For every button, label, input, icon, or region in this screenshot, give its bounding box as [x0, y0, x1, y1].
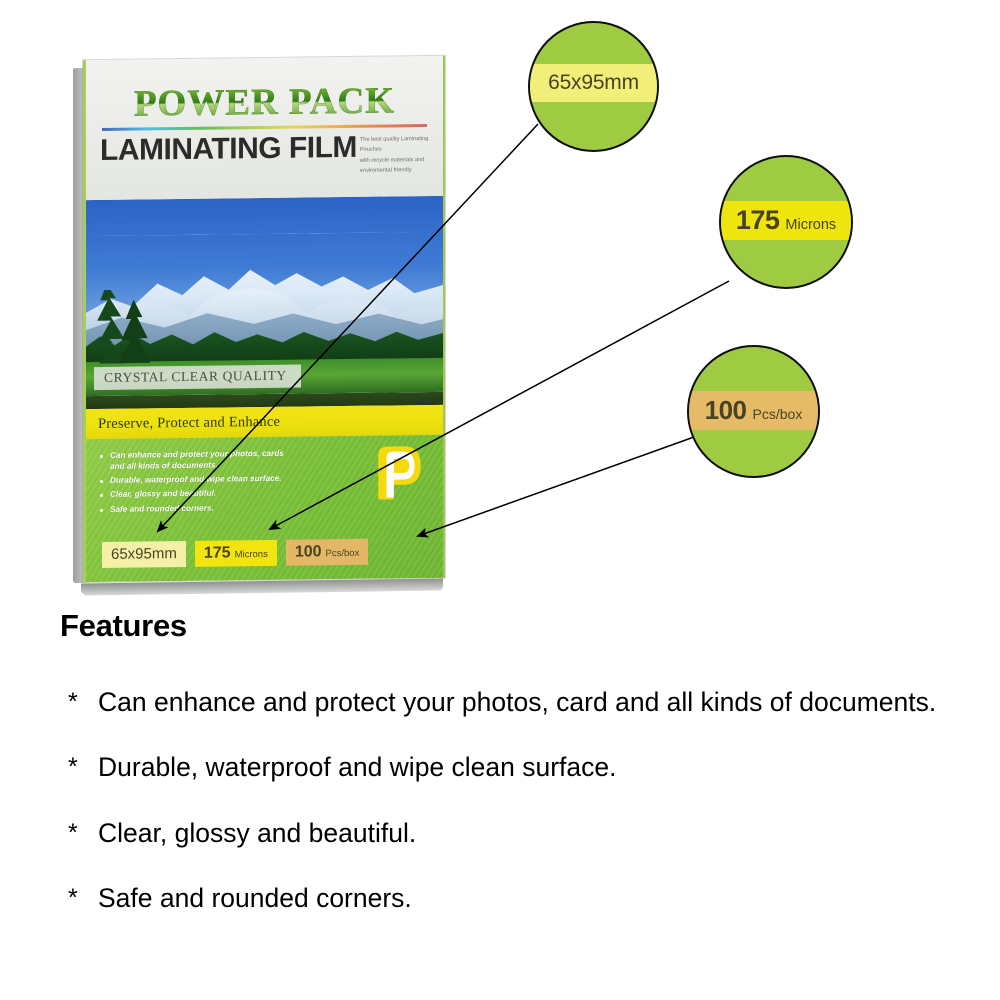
bullet-star-icon: *	[68, 818, 78, 848]
product-type-title: LAMINATING FILM	[100, 133, 357, 166]
box-badge-microns-unit: Microns	[235, 549, 268, 560]
bullet-star-icon: *	[68, 687, 78, 717]
box-badge-pcs: 100 Pcs/box	[286, 539, 369, 566]
power-pack-p-logo-icon	[373, 443, 425, 502]
feature-list-item-text: Safe and rounded corners.	[98, 883, 412, 913]
callout-pcs-unit: Pcs/box	[753, 406, 803, 422]
features-list: * Can enhance and protect your photos, c…	[60, 686, 990, 914]
feature-list-item-text: Can enhance and protect your photos, car…	[98, 687, 936, 717]
callout-strip-microns: 175 Microns	[721, 201, 851, 240]
bullet-star-icon: *	[68, 883, 78, 913]
rainbow-divider	[102, 124, 427, 131]
box-badge-microns-value: 175	[204, 540, 231, 566]
callout-strip-pcs: 100 Pcs/box	[689, 391, 818, 430]
callout-circle-pcs: 100 Pcs/box	[687, 345, 820, 478]
box-badge-pcs-value: 100	[295, 539, 322, 565]
callout-size-value: 65x95mm	[548, 64, 639, 102]
callout-pcs-value: 100	[705, 391, 747, 430]
tagline-band: Preserve, Protect and Enhance	[86, 405, 443, 439]
blurb-line-3: enviromental friendly	[360, 165, 429, 176]
box-feature-item: Clear, glossy and beautiful.	[100, 488, 300, 501]
blurb-line-1: The best quality Laminating Pouches	[360, 134, 429, 156]
product-type-row: LAMINATING FILM The best quality Laminat…	[100, 132, 429, 179]
feature-list-item-text: Clear, glossy and beautiful.	[98, 818, 416, 848]
box-badge-size-value: 65x95mm	[111, 541, 177, 568]
box-badge-size: 65x95mm	[102, 541, 186, 568]
callout-microns-value: 175	[736, 201, 780, 240]
box-front-face: POWER PACK LAMINATING FILM The best qual…	[83, 56, 445, 582]
blurb-line-2: with recycle materials and	[360, 155, 429, 166]
box-badge-pcs-unit: Pcs/box	[326, 548, 360, 559]
callout-strip-size: 65x95mm	[530, 64, 657, 102]
feature-list-item: * Clear, glossy and beautiful.	[60, 817, 980, 849]
box-feature-item: Safe and rounded corners.	[100, 502, 300, 515]
quality-tag: CRYSTAL CLEAR QUALITY	[94, 365, 301, 391]
feature-list-item: * Safe and rounded corners.	[60, 882, 980, 914]
callout-circle-size: 65x95mm	[528, 21, 659, 152]
feature-list-item: * Can enhance and protect your photos, c…	[60, 686, 980, 718]
features-heading: Features	[60, 608, 990, 644]
features-section: Features * Can enhance and protect your …	[60, 608, 990, 947]
brand-title: POWER PACK	[100, 82, 429, 123]
bullet-star-icon: *	[68, 752, 78, 782]
product-blurb: The best quality Laminating Pouches with…	[360, 134, 429, 176]
feature-list-item-text: Durable, waterproof and wipe clean surfa…	[98, 752, 617, 782]
tagline-text: Preserve, Protect and Enhance	[98, 413, 280, 432]
arrow-line-pcs	[418, 437, 694, 536]
feature-list-item: * Durable, waterproof and wipe clean sur…	[60, 751, 980, 783]
product-infographic: POWER PACK LAMINATING FILM The best qual…	[0, 0, 1000, 1000]
box-header: POWER PACK LAMINATING FILM The best qual…	[86, 56, 443, 200]
product-box: POWER PACK LAMINATING FILM The best qual…	[73, 58, 445, 585]
box-landscape-photo: CRYSTAL CLEAR QUALITY	[86, 196, 443, 396]
box-feature-item: Durable, waterproof and wipe clean surfa…	[100, 474, 300, 487]
callout-microns-unit: Microns	[785, 217, 836, 233]
box-badge-microns: 175 Microns	[195, 540, 277, 567]
callout-circle-microns: 175 Microns	[719, 155, 853, 289]
box-feature-item: Can enhance and protect your photos, car…	[100, 449, 300, 473]
box-spec-badges: 65x95mm 175 Microns 100 Pcs/box	[102, 538, 431, 568]
